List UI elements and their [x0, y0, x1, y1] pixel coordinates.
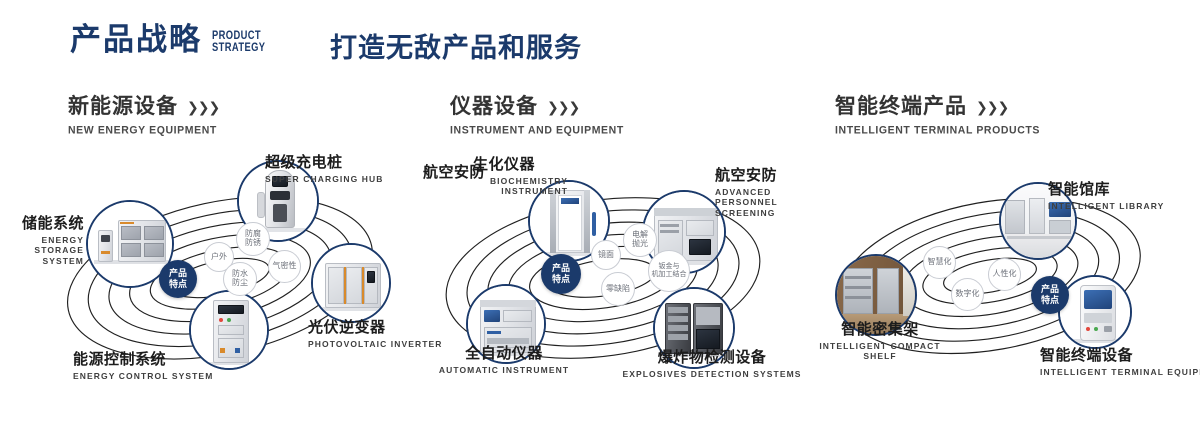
bubble-line1: 产品 — [552, 263, 570, 274]
section-title-en: NEW ENERGY EQUIPMENT — [68, 124, 219, 137]
bubble-line2: 机加工结合 — [652, 271, 687, 279]
caption-en: ENERGY STORAGE SYSTEM — [0, 235, 84, 267]
chevron-right-icon: ❯❯❯ — [187, 100, 219, 114]
caption-cn: 爆炸物检测设备 — [607, 350, 817, 367]
chevron-right-icon: ❯❯❯ — [976, 100, 1008, 114]
caption-cn: 智能密集架 — [805, 322, 955, 339]
caption-cn: 超级充电桩 — [265, 155, 384, 172]
bubble-keyword-humanized[interactable]: 人性化 — [988, 258, 1021, 291]
caption-cn: 智能终端设备 — [1040, 348, 1200, 365]
section-title-en: INTELLIGENT TERMINAL PRODUCTS — [835, 124, 1040, 137]
caption-intelligent-terminal-equipment: 智能终端设备 INTELLIGENT TERMINAL EQUIPMENT — [1040, 348, 1200, 377]
self-service-kiosk-icon — [1060, 277, 1130, 347]
caption-cn: 能源控制系统 — [73, 352, 213, 369]
page-title-en: PRODUCT STRATEGY — [212, 29, 265, 53]
caption-intelligent-compact-shelf: 智能密集架 INTELLIGENT COMPACT SHELF — [805, 322, 955, 362]
bubble-keyword-electropolishing[interactable]: 电解 抛光 — [623, 223, 657, 257]
caption-en: INTELLIGENT LIBRARY — [1048, 201, 1164, 212]
caption-automatic-instrument: 全自动仪器 AUTOMATIC INSTRUMENT — [405, 346, 603, 375]
inverter-cabinet-icon — [313, 245, 389, 321]
bubble-product-features[interactable]: 产品 特点 — [159, 260, 197, 298]
bubble-line1: 钣金与 — [659, 263, 680, 271]
bubble-line2: 抛光 — [632, 240, 648, 249]
bubble-line1: 数字化 — [956, 290, 980, 299]
bubble-keyword-mirror-finish[interactable]: 镜面 — [591, 240, 621, 270]
section-title-instrument: 仪器设备 ❯❯❯ INSTRUMENT AND EQUIPMENT — [450, 96, 624, 136]
bubble-line1: 产品 — [1041, 284, 1059, 295]
page-title-en-line2: STRATEGY — [212, 41, 265, 53]
bubble-line1: 气密性 — [273, 262, 297, 271]
bubble-line2: 特点 — [552, 274, 570, 285]
caption-super-charging-hub: 超级充电桩 SUPER CHARGING HUB — [265, 155, 384, 184]
bubble-keyword-zero-defect[interactable]: 零缺陷 — [601, 272, 635, 306]
bubble-line1: 零缺陷 — [606, 285, 630, 294]
section-title-cn: 智能终端产品 — [835, 96, 967, 117]
bubble-product-features[interactable]: 产品 特点 — [1031, 276, 1069, 314]
section-title-cn: 新能源设备 — [68, 96, 178, 117]
bubble-product-features[interactable]: 产品 特点 — [541, 254, 581, 294]
chevron-right-icon: ❯❯❯ — [547, 100, 579, 114]
bubble-line2: 特点 — [169, 279, 187, 290]
caption-en: INTELLIGENT TERMINAL EQUIPMENT — [1040, 367, 1200, 378]
caption-energy-storage-system: 储能系统 ENERGY STORAGE SYSTEM — [0, 216, 84, 266]
diagram-panel-intelligent-terminal: 智能馆库 INTELLIGENT LIBRARY 智能密集架 INTELLIGE… — [800, 150, 1200, 400]
diagram-panel-new-energy: 储能系统 ENERGY STORAGE SYSTEM 超级充电桩 SUPER C… — [20, 150, 420, 400]
bubble-line2: 防锈 — [245, 239, 261, 248]
caption-cn: 生化仪器 — [473, 157, 568, 174]
diagram-panel-instrument: 航空安防 生化仪器 BIOCHEMISTRY INSTRUMENT 航空安防 A… — [405, 150, 805, 400]
bubble-keyword-digitalized[interactable]: 数字化 — [951, 278, 984, 311]
bubble-line1: 智慧化 — [928, 258, 952, 267]
bubble-line2: 特点 — [1041, 295, 1059, 306]
caption-cn: 全自动仪器 — [405, 346, 603, 363]
bubble-line1: 户外 — [211, 253, 227, 262]
node-photovoltaic-inverter[interactable] — [311, 243, 391, 323]
bubble-keyword-intelligent[interactable]: 智慧化 — [923, 246, 956, 279]
poster-canvas: 产品战略 PRODUCT STRATEGY 打造无敌产品和服务 新能源设备 ❯❯… — [0, 0, 1200, 422]
section-title-en: INSTRUMENT AND EQUIPMENT — [450, 124, 624, 137]
section-title-new-energy: 新能源设备 ❯❯❯ NEW ENERGY EQUIPMENT — [68, 96, 219, 136]
bubble-keyword-anticorrosion[interactable]: 防腐 防锈 — [236, 222, 270, 256]
caption-en: BIOCHEMISTRY INSTRUMENT — [473, 176, 568, 197]
caption-en: ENERGY CONTROL SYSTEM — [73, 371, 213, 382]
page-slogan: 打造无敌产品和服务 — [330, 35, 582, 62]
caption-explosives-detection-systems: 爆炸物检测设备 EXPLOSIVES DETECTION SYSTEMS — [607, 350, 817, 379]
bubble-line1: 产品 — [169, 268, 187, 279]
bubble-line2: 防尘 — [232, 279, 248, 288]
bubble-line1: 镜面 — [598, 251, 614, 260]
caption-biochemistry-instrument: 生化仪器 BIOCHEMISTRY INSTRUMENT — [473, 157, 568, 197]
caption-en: INTELLIGENT COMPACT SHELF — [805, 341, 955, 362]
caption-energy-control-system: 能源控制系统 ENERGY CONTROL SYSTEM — [73, 352, 213, 381]
section-title-intelligent-terminal: 智能终端产品 ❯❯❯ INTELLIGENT TERMINAL PRODUCTS — [835, 96, 1040, 136]
caption-cn: 智能馆库 — [1048, 182, 1164, 199]
bubble-keyword-sheetmetal-machining[interactable]: 钣金与 机加工结合 — [648, 250, 690, 292]
bubble-keyword-airtightness[interactable]: 气密性 — [268, 250, 301, 283]
section-title-cn: 仪器设备 — [450, 96, 538, 117]
page-title-cn: 产品战略 — [70, 24, 202, 55]
bubble-line1: 人性化 — [993, 270, 1017, 279]
bubble-keyword-waterproof[interactable]: 防水 防尘 — [223, 262, 257, 296]
caption-cn: 储能系统 — [0, 216, 84, 233]
caption-en: AUTOMATIC INSTRUMENT — [405, 365, 603, 376]
caption-en: SUPER CHARGING HUB — [265, 174, 384, 185]
page-title: 产品战略 PRODUCT STRATEGY — [70, 24, 280, 55]
caption-en: EXPLOSIVES DETECTION SYSTEMS — [607, 369, 817, 380]
caption-intelligent-library: 智能馆库 INTELLIGENT LIBRARY — [1048, 182, 1164, 211]
node-intelligent-terminal-equipment[interactable] — [1058, 275, 1132, 349]
